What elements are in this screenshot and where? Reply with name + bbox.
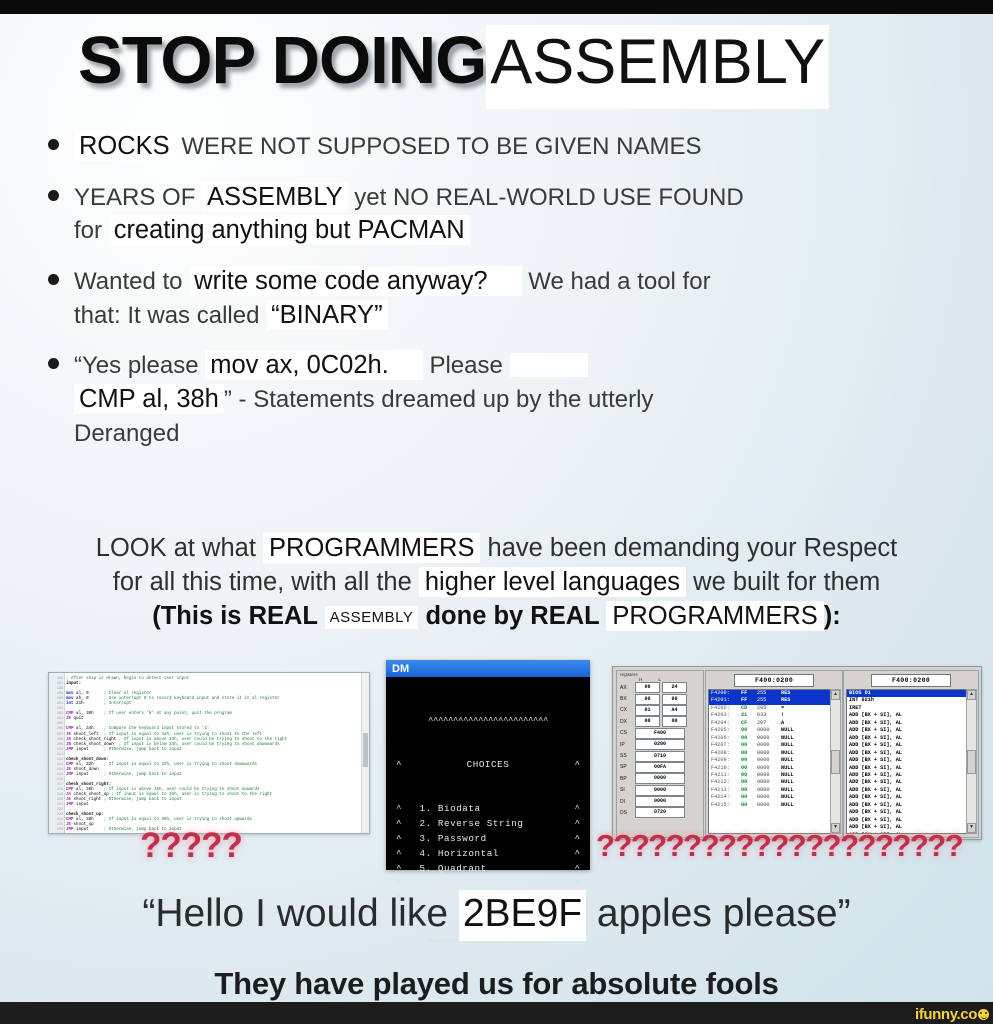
look-text: we built for them xyxy=(686,568,880,596)
disassembly-row[interactable]: ADD [BX + SI], AL xyxy=(847,765,966,772)
bullet-dot-icon xyxy=(48,139,59,150)
memory-ascii: NULL xyxy=(781,757,793,764)
memory-address: F4205: xyxy=(711,727,741,734)
letterbox-top xyxy=(0,0,993,14)
look-text: LOOK at what xyxy=(96,534,263,562)
look-text: for all this time, with all the xyxy=(113,568,419,596)
disassembly-row[interactable]: ADD [BX + SI], AL xyxy=(847,712,966,719)
memory-decimal: 0000 xyxy=(757,802,781,809)
register-row: IP0200 xyxy=(617,739,703,750)
register-value[interactable]: 0000 xyxy=(635,796,685,807)
memory-decimal: 0000 xyxy=(757,794,781,801)
bullet-text: that: It was called xyxy=(74,302,266,329)
bullet-dot-icon xyxy=(48,190,59,201)
memory-decimal: 255 xyxy=(757,697,781,704)
register-row: SP00FA xyxy=(617,762,703,773)
register-row: SS0710 xyxy=(617,750,703,761)
look-text: have been demanding your Respect xyxy=(480,534,897,562)
register-name: DS xyxy=(620,810,635,816)
hello-text: “Hello I would like xyxy=(142,892,458,935)
memory-address: F4214: xyxy=(711,794,741,801)
bullet-dot-icon xyxy=(48,274,59,285)
look-line-2: for all this time, with all the higher l… xyxy=(0,566,993,600)
memory-address-field[interactable]: F400:0200 xyxy=(734,674,814,687)
memory-ascii: NULL xyxy=(781,787,793,794)
memory-hex: 00 xyxy=(741,779,757,786)
bullet-text: Wanted to xyxy=(74,268,189,295)
memory-row[interactable]: F4207:000000NULL xyxy=(709,742,830,749)
memory-row[interactable]: F4204:CF207A xyxy=(709,720,830,727)
memory-decimal: 0000 xyxy=(757,750,781,757)
memory-row[interactable]: F4203:21033! xyxy=(709,712,830,719)
memory-row[interactable]: F4212:000000NULL xyxy=(709,779,830,786)
assembly-instruction-cmp: CMP xyxy=(74,384,135,414)
dos-heading: CHOICES xyxy=(402,758,575,773)
memory-row[interactable]: F4205:000000NULL xyxy=(709,727,830,734)
memory-ascii: NULL xyxy=(781,779,793,786)
scrollbar-thumb[interactable] xyxy=(363,733,368,767)
memory-decimal: 033 xyxy=(757,712,781,719)
bullet-text: yet NO REAL-WORLD USE FOUND xyxy=(348,184,744,211)
dos-menu-label: 5. Quadrant xyxy=(402,862,575,877)
memory-ascii: RES xyxy=(781,697,790,704)
register-pairs: AX0624BX0000CX01A4DX0000 xyxy=(617,682,703,728)
question-marks-left: ????? xyxy=(140,826,242,866)
disassembly-instruction: ADD [BX + SI], AL xyxy=(849,742,902,749)
bullet-dot-icon xyxy=(48,358,59,369)
bullet-text: WERE NOT SUPPOSED TO BE GIVEN NAMES xyxy=(175,133,702,160)
register-value-high[interactable]: 00 xyxy=(635,716,660,727)
memory-ascii: NULL xyxy=(781,727,793,734)
register-row: DS0720 xyxy=(617,807,703,818)
assembly-instruction-mov: mov ax, 0C02h. xyxy=(205,350,423,380)
scroll-down-icon[interactable]: ▼ xyxy=(967,823,976,833)
register-value-high[interactable]: 01 xyxy=(635,705,660,716)
dos-menu-label: 3. Password xyxy=(402,832,575,847)
register-value[interactable]: 0720 xyxy=(635,807,685,818)
memory-row[interactable]: F4210:000000NULL xyxy=(709,765,830,772)
disassembly-row[interactable]: ADD [BX + SI], AL xyxy=(847,809,966,816)
register-name: SI xyxy=(620,787,635,793)
bullet-item: ROCKS WERE NOT SUPPOSED TO BE GIVEN NAME… xyxy=(34,130,974,164)
memory-hex: 00 xyxy=(741,765,757,772)
disassembly-instruction: ADD [BX + SI], AL xyxy=(849,735,902,742)
register-row: BX0000 xyxy=(617,693,703,704)
dos-heading-row: ^ CHOICES ^ xyxy=(390,758,586,773)
register-name: SP xyxy=(620,764,635,770)
memory-row[interactable]: F4211:000000NULL xyxy=(709,772,830,779)
register-singles: CSF400IP0200SS0710SP00FABP0000SI0000DI00… xyxy=(617,728,703,819)
memory-decimal: 0000 xyxy=(757,757,781,764)
disassembly-row[interactable]: ADD [BX + SI], AL xyxy=(847,720,966,727)
title-prefix: STOP DOING xyxy=(78,23,486,98)
meme-image: STOP DOINGASSEMBLY ROCKS WERE NOT SUPPOS… xyxy=(0,0,993,1024)
question-marks-right: ????????????????????? xyxy=(596,828,962,864)
disassembly-instruction: ADD [BX + SI], AL xyxy=(849,802,902,809)
memory-hex: FF xyxy=(741,697,757,704)
bullet-text: ” - Statements dreamed up by the utterly xyxy=(224,386,654,413)
register-row: AX0624 xyxy=(617,682,703,693)
dos-menu-item[interactable]: ^1. Biodata^ xyxy=(390,802,586,817)
register-row: CSF400 xyxy=(617,728,703,739)
register-value-low[interactable]: 00 xyxy=(662,694,687,705)
fools-line: They have played us for absolute fools xyxy=(0,966,993,1002)
look-text-bold: ): xyxy=(824,602,841,630)
memory-address: F4212: xyxy=(711,779,741,786)
meme-canvas: STOP DOINGASSEMBLY ROCKS WERE NOT SUPPOS… xyxy=(0,14,993,1002)
memory-address: F4208: xyxy=(711,750,741,757)
dos-console-screenshot: DM ^^^^^^^^^^^^^^^^^^^^^^^^ ^ CHOICES ^ … xyxy=(386,660,590,870)
line-number-gutter: 1961971981992002012022032042052062072082… xyxy=(49,673,65,833)
line-number: 227 xyxy=(49,833,63,834)
memory-row[interactable]: F4202:CD205= xyxy=(709,705,830,712)
memory-ascii: NULL xyxy=(781,742,793,749)
disassembly-instruction: ADD [BX + SI], AL xyxy=(849,727,902,734)
memory-address: F4207: xyxy=(711,742,741,749)
disassembly-instruction: ADD [BX + SI], AL xyxy=(849,817,902,824)
dos-menu-item[interactable]: ^6. Addition^ xyxy=(390,876,586,891)
memory-address: F4210: xyxy=(711,765,741,772)
memory-hex: 00 xyxy=(741,772,757,779)
bullet-list: ROCKS WERE NOT SUPPOSED TO BE GIVEN NAME… xyxy=(34,130,974,467)
disassembly-panel: F400:0200 BIOS D1INT 021hIRETADD [BX + S… xyxy=(843,670,979,838)
memory-decimal: 207 xyxy=(757,720,781,727)
memory-address: F4209: xyxy=(711,757,741,764)
memory-row[interactable]: F4200:FF255RES xyxy=(709,690,830,697)
disassembly-row[interactable]: ADD [BX + SI], AL xyxy=(847,772,966,779)
look-line-3: (This is REAL ASSEMBLY done by REAL PROG… xyxy=(0,600,993,634)
register-name: DX xyxy=(620,719,635,725)
disassembly-instruction: ADD [BX + SI], AL xyxy=(849,787,902,794)
bullet-text: Please xyxy=(423,352,510,379)
register-value[interactable]: 00FA xyxy=(635,762,685,773)
memory-hex: 00 xyxy=(741,787,757,794)
register-name: SS xyxy=(620,753,635,759)
memory-ascii: ! xyxy=(781,712,784,719)
memory-address: F4213: xyxy=(711,787,741,794)
memory-row[interactable]: F4214:000000NULL xyxy=(709,794,830,801)
hello-text: apples please” xyxy=(586,892,851,935)
dos-menu-item[interactable]: ^3. Password^ xyxy=(390,832,586,847)
dos-menu-label: 4. Horizontal xyxy=(402,847,575,862)
dos-titlebar: DM xyxy=(386,660,590,677)
register-name: CX xyxy=(620,707,635,713)
memory-decimal: 0000 xyxy=(757,735,781,742)
look-highlight: higher level languages xyxy=(419,567,686,597)
dos-menu-item[interactable]: ^2. Reverse String^ xyxy=(390,817,586,832)
caret-right-icon: ^ xyxy=(574,817,580,832)
disassembly-row[interactable]: ADD [BX + SI], AL xyxy=(847,757,966,764)
disassembly-address-field[interactable]: F400:0200 xyxy=(871,674,951,687)
source-code: ; After ship is drawn, begin to detect u… xyxy=(66,677,369,833)
memory-list[interactable]: F4200:FF255RESF4201:FF255RESF4202:CD205=… xyxy=(708,689,831,834)
register-name: AX xyxy=(620,685,635,691)
letterbox-bottom xyxy=(0,1002,993,1024)
memory-ascii: NULL xyxy=(781,794,793,801)
disassembly-instruction: ADD [BX + SI], AL xyxy=(849,712,902,719)
memory-row[interactable]: F4213:000000NULL xyxy=(709,787,830,794)
memory-decimal: 0000 xyxy=(757,787,781,794)
disassembly-instruction: ADD [BX + SI], AL xyxy=(849,794,902,801)
bullet-text: Deranged xyxy=(74,420,179,447)
caret-right-icon: ^ xyxy=(574,758,580,773)
scrollbar-thumb[interactable] xyxy=(831,750,840,774)
disassembly-row[interactable]: BIOS D1 xyxy=(847,690,966,697)
register-panel: registers H L AX0624BX0000CX01A4DX0000 C… xyxy=(616,670,704,838)
memory-row[interactable]: F4201:FF255RES xyxy=(709,697,830,704)
dos-menu-label: 1. Biodata xyxy=(402,802,575,817)
dos-menu-label: 2. Reverse String xyxy=(402,817,575,832)
disassembly-instruction: IRET xyxy=(849,705,861,712)
memory-ascii: NULL xyxy=(781,750,793,757)
memory-hex: 00 xyxy=(741,742,757,749)
memory-decimal: 0000 xyxy=(757,765,781,772)
disassembly-row[interactable]: ADD [BX + SI], AL xyxy=(847,779,966,786)
smiley-face-icon xyxy=(978,1009,989,1020)
memory-hex: CD xyxy=(741,705,757,712)
memory-hex: 00 xyxy=(741,794,757,801)
caret-right-icon: ^ xyxy=(574,802,580,817)
memory-scrollbar[interactable]: ▲ ▼ xyxy=(830,689,841,834)
disassembly-row[interactable]: ADD [BX + SI], AL xyxy=(847,727,966,734)
assembly-operands: al, 38h xyxy=(135,384,224,414)
disassembly-list[interactable]: BIOS D1INT 021hIRETADD [BX + SI], ALADD … xyxy=(846,689,967,834)
memory-decimal: 255 xyxy=(757,690,781,697)
bullet-highlight: “BINARY” xyxy=(266,300,387,330)
register-value-low[interactable]: A4 xyxy=(662,705,687,716)
register-value[interactable]: 0710 xyxy=(635,751,685,762)
memory-decimal: 0000 xyxy=(757,779,781,786)
register-value-high[interactable]: 00 xyxy=(635,694,660,705)
bullet-text: YEARS OF xyxy=(74,184,202,211)
disassembly-instruction: ADD [BX + SI], AL xyxy=(849,809,902,816)
disassembly-row[interactable]: IRET xyxy=(847,705,966,712)
caret-right-icon: ^ xyxy=(574,876,580,891)
look-text-bold: done by REAL xyxy=(418,602,606,630)
memory-row[interactable]: F4209:000000NULL xyxy=(709,757,830,764)
disassembly-row[interactable]: ADD [BX + SI], AL xyxy=(847,750,966,757)
register-row: CX01A4 xyxy=(617,705,703,716)
register-value-low[interactable]: 00 xyxy=(662,716,687,727)
dos-menu-item[interactable]: ^5. Quadrant^ xyxy=(390,862,586,877)
page-title: STOP DOINGASSEMBLY xyxy=(78,22,829,99)
memory-hex: 00 xyxy=(741,735,757,742)
memory-address: F4204: xyxy=(711,720,741,727)
ifunny-watermark: ifunny.co xyxy=(915,1006,989,1023)
look-block: LOOK at what PROGRAMMERS have been deman… xyxy=(0,532,993,634)
memory-address: F4200: xyxy=(711,690,741,697)
disassembly-instruction: ADD [BX + SI], AL xyxy=(849,750,902,757)
blank-highlight-box xyxy=(510,353,588,377)
register-name: BX xyxy=(620,696,635,702)
bullet-text: “Yes please xyxy=(74,352,205,379)
memory-ascii: NULL xyxy=(781,772,793,779)
register-value[interactable]: 0000 xyxy=(635,773,685,784)
hello-line: “Hello I would like 2BE9F apples please” xyxy=(0,892,993,936)
register-name: CS xyxy=(620,730,635,736)
watermark-text: ifunny.co xyxy=(915,1006,977,1023)
disassembly-instruction: INT 021h xyxy=(849,697,874,704)
disassembly-row[interactable]: ADD [BX + SI], AL xyxy=(847,742,966,749)
memory-hex: FF xyxy=(741,690,757,697)
look-highlight: PROGRAMMERS xyxy=(606,601,823,631)
memory-ascii: RES xyxy=(781,690,790,697)
disassembly-instruction: ADD [BX + SI], AL xyxy=(849,720,902,727)
caret-right-icon: ^ xyxy=(574,862,580,877)
bullet-highlight: creating anything but PACMAN xyxy=(109,215,470,245)
look-line-1: LOOK at what PROGRAMMERS have been deman… xyxy=(0,532,993,566)
memory-row[interactable]: F4208:000000NULL xyxy=(709,750,830,757)
disassembly-scrollbar[interactable]: ▲ ▼ xyxy=(966,689,977,834)
memory-ascii: A xyxy=(781,720,784,727)
disassembly-row[interactable]: ADD [BX + SI], AL xyxy=(847,787,966,794)
memory-hex: CF xyxy=(741,720,757,727)
memory-address: F4215: xyxy=(711,802,741,809)
memory-ascii: NULL xyxy=(781,802,793,809)
scroll-up-icon[interactable]: ▲ xyxy=(831,690,840,700)
register-row: DI0000 xyxy=(617,796,703,807)
memory-hex: 21 xyxy=(741,712,757,719)
memory-ascii: NULL xyxy=(781,735,793,742)
memory-decimal: 0000 xyxy=(757,772,781,779)
disassembly-instruction: ADD [BX + SI], AL xyxy=(849,765,902,772)
register-row: BP0000 xyxy=(617,773,703,784)
memory-address: F4206: xyxy=(711,735,741,742)
caret-right-icon: ^ xyxy=(574,847,580,862)
code-editor-screenshot: 1961971981992002012022032042052062072082… xyxy=(48,672,370,834)
disassembly-row[interactable]: ADD [BX + SI], AL xyxy=(847,735,966,742)
disassembly-row[interactable]: INT 021h xyxy=(847,697,966,704)
disassembly-row[interactable]: ADD [BX + SI], AL xyxy=(847,794,966,801)
look-highlight: PROGRAMMERS xyxy=(263,533,480,563)
dos-screen: ^^^^^^^^^^^^^^^^^^^^^^^^ ^ CHOICES ^ ^1.… xyxy=(386,677,590,870)
register-name: DI xyxy=(620,799,635,805)
memory-hex: 00 xyxy=(741,727,757,734)
disassembly-instruction: ADD [BX + SI], AL xyxy=(849,772,902,779)
look-tiny-highlight: ASSEMBLY xyxy=(325,606,419,629)
bullet-text: for xyxy=(74,217,109,244)
memory-hex: 00 xyxy=(741,757,757,764)
memory-row[interactable]: F4215:000000NULL xyxy=(709,802,830,809)
memory-address: F4203: xyxy=(711,712,741,719)
memory-decimal: 205 xyxy=(757,705,781,712)
bullet-highlight: ROCKS xyxy=(74,131,175,161)
disassembly-row[interactable]: ADD [BX + SI], AL xyxy=(847,817,966,824)
bullet-highlight: write some code anyway? xyxy=(189,266,521,296)
register-row: DX0000 xyxy=(617,716,703,727)
debugger-screenshot: registers H L AX0624BX0000CX01A4DX0000 C… xyxy=(612,666,982,840)
dos-menu-item[interactable]: ^4. Horizontal^ xyxy=(390,847,586,862)
hex-value-highlight: 2BE9F xyxy=(459,890,586,941)
memory-decimal: 0000 xyxy=(757,742,781,749)
bullet-text: We had a tool for xyxy=(522,268,711,295)
caret-right-icon: ^ xyxy=(574,832,580,847)
memory-address: F4211: xyxy=(711,772,741,779)
register-name: IP xyxy=(620,742,635,748)
bullet-highlight: ASSEMBLY xyxy=(202,182,348,212)
bullet-item: Wanted to write some code anyway? We had… xyxy=(34,265,974,332)
scroll-up-icon[interactable]: ▲ xyxy=(967,690,976,700)
bullet-item: “Yes please mov ax, 0C02h. Please CMP al… xyxy=(34,349,974,450)
memory-hex: 00 xyxy=(741,750,757,757)
memory-panel: F400:0200 F4200:FF255RESF4201:FF255RESF4… xyxy=(705,670,843,838)
memory-ascii: = xyxy=(781,705,784,712)
register-row: SI0000 xyxy=(617,785,703,796)
register-name: BP xyxy=(620,776,635,782)
look-text-bold: (This is REAL xyxy=(152,602,324,630)
disassembly-row[interactable]: ADD [BX + SI], AL xyxy=(847,802,966,809)
memory-decimal: 0000 xyxy=(757,727,781,734)
disassembly-instruction: ADD [BX + SI], AL xyxy=(849,779,902,786)
dos-menu-label: 6. Addition xyxy=(402,876,575,891)
register-value[interactable]: 0000 xyxy=(635,785,685,796)
register-value-high[interactable]: 06 xyxy=(635,682,660,693)
title-subject: ASSEMBLY xyxy=(486,25,829,109)
scrollbar-thumb[interactable] xyxy=(967,750,976,774)
memory-address: F4201: xyxy=(711,697,741,704)
dos-border-top: ^^^^^^^^^^^^^^^^^^^^^^^^ xyxy=(390,714,586,729)
editor-scrollbar[interactable] xyxy=(361,673,369,833)
register-value[interactable]: F400 xyxy=(635,728,685,739)
memory-ascii: NULL xyxy=(781,765,793,772)
bullet-item: YEARS OF ASSEMBLY yet NO REAL-WORLD USE … xyxy=(34,181,974,248)
register-value-low[interactable]: 24 xyxy=(662,682,687,693)
memory-address: F4202: xyxy=(711,705,741,712)
memory-hex: 00 xyxy=(741,802,757,809)
disassembly-instruction: ADD [BX + SI], AL xyxy=(849,757,902,764)
register-value[interactable]: 0200 xyxy=(635,739,685,750)
disassembly-instruction: BIOS D1 xyxy=(849,690,871,697)
memory-row[interactable]: F4206:000000NULL xyxy=(709,735,830,742)
